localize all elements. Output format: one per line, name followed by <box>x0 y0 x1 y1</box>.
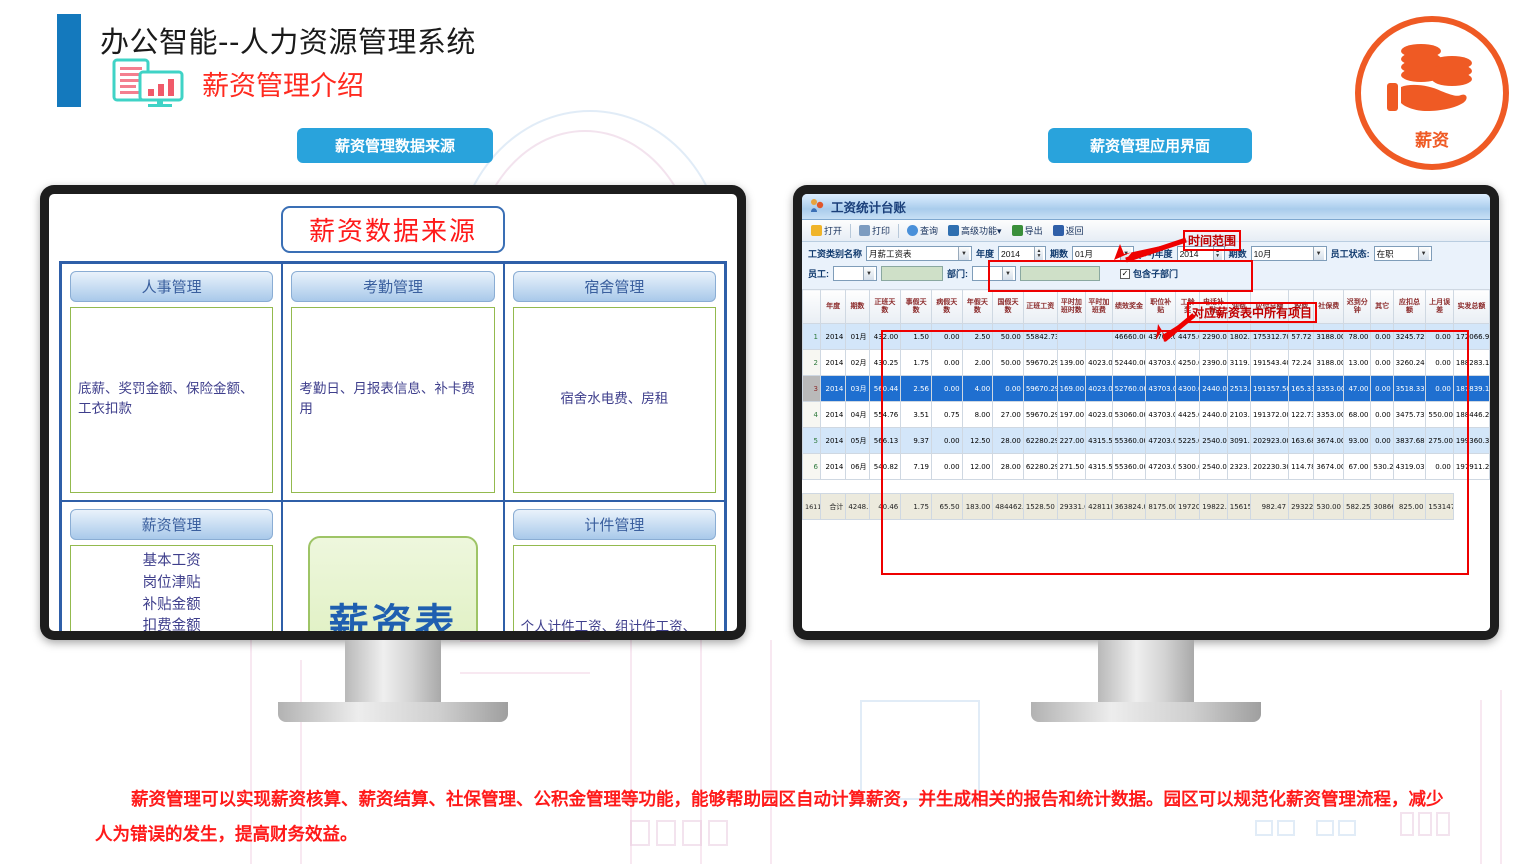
table-cell[interactable]: 2440.00 <box>1200 402 1227 428</box>
table-cell[interactable]: 4315.50 <box>1086 428 1112 454</box>
cell-body-hr: 底薪、奖罚金额、保险金额、工衣扣款 <box>70 307 273 493</box>
row-number[interactable]: 4 <box>803 402 821 428</box>
table-cell[interactable]: 3674.00 <box>1314 454 1344 480</box>
table-row[interactable]: 6201406月540.827.190.0012.0028.0062280.29… <box>803 454 1490 480</box>
table-cell[interactable] <box>1057 324 1086 350</box>
table-cell[interactable]: 3837.68 <box>1393 428 1426 454</box>
table-cell[interactable]: 68.00 <box>1344 402 1371 428</box>
table-row[interactable]: 3201403月560.442.560.004.000.0059670.2916… <box>803 376 1490 402</box>
table-cell[interactable]: 191543.40 <box>1251 350 1289 376</box>
table-row[interactable]: 5201405月566.139.370.0012.5028.0062280.29… <box>803 428 1490 454</box>
toolbar-advanced-button[interactable]: 高级功能▾ <box>944 223 1006 238</box>
table-cell[interactable]: 3188.00 <box>1314 324 1344 350</box>
col-header-19[interactable]: 迟到分钟 <box>1344 290 1371 324</box>
table-cell[interactable]: 271.50 <box>1057 454 1086 480</box>
table-cell[interactable]: 52440.00 <box>1112 350 1146 376</box>
table-cell[interactable]: 2014 <box>820 324 845 350</box>
col-header-11[interactable]: 绩效奖金 <box>1112 290 1146 324</box>
row-number[interactable]: 5 <box>803 428 821 454</box>
spacer-cell <box>1146 480 1176 494</box>
table-cell[interactable]: 4250.00 <box>1176 350 1200 376</box>
filter-panel: 工资类别名称 月薪工资表 ▼ 年度 2014 ▲▼ 期数 01月 <box>802 242 1490 289</box>
left-monitor-neck <box>345 640 441 702</box>
table-cell[interactable]: 4319.03 <box>1393 454 1426 480</box>
table-cell[interactable]: 2440.00 <box>1200 376 1227 402</box>
total-cell: 30866.72 <box>1371 494 1393 520</box>
table-cell[interactable]: 67.00 <box>1344 454 1371 480</box>
table-cell[interactable]: 47.00 <box>1344 376 1371 402</box>
table-cell[interactable]: 7.19 <box>901 454 932 480</box>
table-cell[interactable]: 5300.00 <box>1176 454 1200 480</box>
table-cell[interactable]: 0.00 <box>1426 324 1453 350</box>
dept-select[interactable]: ▼ <box>972 266 1016 281</box>
table-cell[interactable]: 2014 <box>820 376 845 402</box>
payroll-table-chip: 薪资表 <box>308 536 479 631</box>
table-cell[interactable]: 3.51 <box>901 402 932 428</box>
toolbar-open-button[interactable]: 打开 <box>807 223 846 238</box>
table-cell[interactable]: 12.50 <box>962 428 993 454</box>
table-cell[interactable]: 188283.16 <box>1453 350 1489 376</box>
table-cell[interactable]: 43703.00 <box>1146 324 1176 350</box>
row-number[interactable]: 2 <box>803 350 821 376</box>
col-header-3[interactable]: 正班天数 <box>869 290 901 324</box>
cell-body-piecework: 个人计件工资、组计件工资、提成、奖金 <box>513 545 716 631</box>
table-cell[interactable]: 2.00 <box>962 350 993 376</box>
table-cell[interactable]: 0.00 <box>1371 402 1393 428</box>
chevron-down-icon: ▼ <box>863 267 874 280</box>
table-row[interactable]: 2201402月430.251.750.002.0050.0059670.291… <box>803 350 1490 376</box>
employee-label: 员工: <box>808 267 829 280</box>
toolbar-print-label: 打印 <box>872 224 890 237</box>
subtitle-group: 薪资管理介绍 <box>112 58 364 108</box>
col-header-4[interactable]: 事假天数 <box>901 290 932 324</box>
col-header-2[interactable]: 期数 <box>846 290 869 324</box>
total-cell: 530.00 <box>1314 494 1344 520</box>
folder-open-icon <box>811 225 822 236</box>
total-cell: 4248.71 <box>846 494 869 520</box>
table-cell[interactable]: 554.76 <box>869 402 901 428</box>
table-cell[interactable]: 566.13 <box>869 428 901 454</box>
table-cell[interactable]: 0.00 <box>993 376 1024 402</box>
table-cell[interactable]: 0.00 <box>931 428 962 454</box>
col-header-rownum[interactable] <box>803 290 821 324</box>
col-header-1[interactable]: 年度 <box>820 290 845 324</box>
document-chart-icon <box>112 58 190 108</box>
table-cell[interactable]: 540.82 <box>869 454 901 480</box>
table-cell[interactable]: 55360.00 <box>1112 454 1146 480</box>
chevron-down-icon: ▼ <box>1418 247 1429 260</box>
total-cell: 29322.00 <box>1289 494 1314 520</box>
total-cell: 19720.00 <box>1176 494 1200 520</box>
table-cell[interactable]: 12.00 <box>962 454 993 480</box>
table-cell[interactable]: 430.25 <box>869 350 901 376</box>
table-cell[interactable]: 62280.29 <box>1023 428 1057 454</box>
category-label: 工资类别名称 <box>808 247 862 260</box>
table-cell[interactable]: 197.00 <box>1057 402 1086 428</box>
table-cell[interactable]: 2014 <box>820 402 845 428</box>
right-monitor: 工资统计台账 打开 打印 查询 <box>793 185 1499 722</box>
spacer-cell <box>1112 480 1146 494</box>
checkbox-icon[interactable]: ✓ <box>1120 269 1130 279</box>
table-cell[interactable]: 227.00 <box>1057 428 1086 454</box>
cell-body-payroll-mgmt: 基本工资 岗位津贴 补贴金额 扣费金额 全勤奖 借款金额 计时金额 … … <box>70 545 273 631</box>
filter-row-1: 工资类别名称 月薪工资表 ▼ 年度 2014 ▲▼ 期数 01月 <box>808 246 1484 261</box>
table-cell[interactable]: 2014 <box>820 428 845 454</box>
employee-name-field[interactable] <box>881 266 943 281</box>
chevron-down-icon: ▼ <box>1120 247 1131 260</box>
cell-hr: 人事管理 底薪、奖罚金额、保险金额、工衣扣款 <box>61 263 282 501</box>
table-cell[interactable]: 04月 <box>846 402 869 428</box>
table-cell[interactable]: 53060.00 <box>1112 402 1146 428</box>
table-cell[interactable]: 43703.00 <box>1146 402 1176 428</box>
table-cell[interactable]: 05月 <box>846 428 869 454</box>
col-header-18[interactable]: 社保费 <box>1314 290 1344 324</box>
right-monitor-base <box>1031 702 1261 722</box>
spacer-cell <box>962 480 993 494</box>
table-cell[interactable]: 188446.27 <box>1453 402 1489 428</box>
table-row[interactable]: 4201404月554.763.510.758.0027.0059670.291… <box>803 402 1490 428</box>
export-icon <box>1012 225 1023 236</box>
total-count: 16112 <box>803 494 821 520</box>
pill-data-source: 薪资管理数据来源 <box>297 128 493 163</box>
spacer-cell <box>846 480 869 494</box>
table-cell[interactable]: 3188.00 <box>1314 350 1344 376</box>
total-cell: 982.47 <box>1251 494 1289 520</box>
table-cell[interactable]: 3091.50 <box>1227 428 1250 454</box>
year-to-label: (<=)年度 <box>1138 247 1173 260</box>
table-cell[interactable]: 8.00 <box>962 402 993 428</box>
chevron-down-icon: ▼ <box>958 247 969 260</box>
spacer-cell <box>803 480 821 494</box>
spacer-cell <box>1251 480 1289 494</box>
table-cell[interactable]: 59670.29 <box>1023 402 1057 428</box>
status-label: 员工状态: <box>1331 247 1370 260</box>
table-cell[interactable]: 0.00 <box>931 376 962 402</box>
table-cell[interactable]: 2390.00 <box>1200 350 1227 376</box>
row-number[interactable]: 6 <box>803 454 821 480</box>
hand-holding-coins-icon <box>1381 35 1483 124</box>
col-header-7[interactable]: 国假天数 <box>993 290 1024 324</box>
app-logo-icon <box>809 198 824 215</box>
col-header-8[interactable]: 正班工资 <box>1023 290 1057 324</box>
table-cell[interactable]: 0.00 <box>1371 376 1393 402</box>
table-cell[interactable]: 165.33 <box>1289 376 1314 402</box>
spacer-cell <box>1393 480 1426 494</box>
table-cell[interactable]: 2.50 <box>962 324 993 350</box>
annotation-time-range: 时间范围 <box>1183 230 1241 251</box>
table-cell[interactable]: 202230.30 <box>1251 454 1289 480</box>
total-cell: 363824.00 <box>1112 494 1146 520</box>
toolbar-print-button[interactable]: 打印 <box>855 223 894 238</box>
total-label: 合计 <box>820 494 845 520</box>
cell-attendance: 考勤管理 考勤日、月报表信息、补卡费用 <box>282 263 503 501</box>
spacer-cell <box>1314 480 1344 494</box>
cell-head-piecework: 计件管理 <box>513 509 716 540</box>
year-label: 年度 <box>976 247 994 260</box>
table-cell[interactable]: 2540.00 <box>1200 454 1227 480</box>
table-cell[interactable]: 02月 <box>846 350 869 376</box>
payroll-ledger-app: 工资统计台账 打开 打印 查询 <box>802 194 1490 631</box>
total-cell: 582.25 <box>1344 494 1371 520</box>
period-select[interactable]: 01月 ▼ <box>1072 246 1134 261</box>
row-number[interactable]: 3 <box>803 376 821 402</box>
table-cell[interactable]: 4425.00 <box>1176 402 1200 428</box>
ledger-table-wrapper[interactable]: 年度期数正班天数事假天数病假天数年假天数国假天数正班工资平时加班时数平时加班费绩… <box>802 289 1490 631</box>
table-cell[interactable]: 202923.00 <box>1251 428 1289 454</box>
spacer-cell <box>931 480 962 494</box>
table-cell[interactable]: 0.00 <box>1371 324 1393 350</box>
table-cell[interactable]: 2014 <box>820 454 845 480</box>
spacer-cell <box>869 480 901 494</box>
total-cell: 40.46 <box>869 494 901 520</box>
table-cell[interactable]: 78.00 <box>1344 324 1371 350</box>
cell-head-payroll-mgmt: 薪资管理 <box>70 509 273 540</box>
total-cell: 825.00 <box>1393 494 1426 520</box>
total-cell: 1531476.98 <box>1426 494 1453 520</box>
search-icon <box>907 225 918 236</box>
spacer-cell <box>1227 480 1250 494</box>
toolbar-separator <box>850 224 851 238</box>
printer-icon <box>859 225 870 236</box>
category-value: 月薪工资表 <box>869 248 912 260</box>
total-cell: 65.50 <box>931 494 962 520</box>
status-value: 在职 <box>1377 248 1394 260</box>
table-cell[interactable]: 197911.27 <box>1453 454 1489 480</box>
table-cell[interactable]: 59670.29 <box>1023 376 1057 402</box>
chevron-down-icon: ▼ <box>1313 247 1324 260</box>
diagram-grid: 人事管理 底薪、奖罚金额、保险金额、工衣扣款 考勤管理 考勤日、月报表信息、补卡… <box>59 261 727 631</box>
table-cell[interactable]: 432.00 <box>869 324 901 350</box>
cell-body-dormitory: 宿舍水电费、房租 <box>513 307 716 493</box>
spinner-icon[interactable]: ▲▼ <box>1034 247 1043 260</box>
table-cell[interactable]: 5225.00 <box>1176 428 1200 454</box>
table-cell[interactable]: 2.56 <box>901 376 932 402</box>
table-cell[interactable]: 550.00 <box>1426 402 1453 428</box>
spacer-cell <box>1289 480 1314 494</box>
col-header-5[interactable]: 病假天数 <box>931 290 962 324</box>
status-select[interactable]: 在职 ▼ <box>1374 246 1432 261</box>
total-cell: 1528.50 <box>1023 494 1057 520</box>
left-monitor-base <box>278 702 508 722</box>
table-cell[interactable]: 2014 <box>820 350 845 376</box>
table-cell[interactable]: 0.00 <box>1371 350 1393 376</box>
table-cell[interactable]: 4315.50 <box>1086 454 1112 480</box>
table-cell[interactable]: 114.78 <box>1289 454 1314 480</box>
period-to-select[interactable]: 10月 ▼ <box>1251 246 1327 261</box>
row-number[interactable]: 1 <box>803 324 821 350</box>
spacer-cell <box>1176 480 1200 494</box>
table-cell[interactable]: 1802.10 <box>1227 324 1250 350</box>
table-row[interactable]: 1201401月432.001.500.002.5050.0055842.734… <box>803 324 1490 350</box>
table-cell[interactable]: 06月 <box>846 454 869 480</box>
cell-head-dormitory: 宿舍管理 <box>513 271 716 302</box>
badge-label: 薪资 <box>1415 126 1449 151</box>
total-cell: 1.75 <box>901 494 932 520</box>
spacer-cell <box>1200 480 1227 494</box>
table-cell[interactable] <box>1086 324 1112 350</box>
cell-piecework: 计件管理 个人计件工资、组计件工资、提成、奖金 <box>504 501 725 631</box>
table-cell[interactable]: 4.00 <box>962 376 993 402</box>
table-cell[interactable]: 3353.00 <box>1314 376 1344 402</box>
table-cell[interactable]: 47203.00 <box>1146 428 1176 454</box>
table-spacer-row <box>803 480 1490 494</box>
table-cell[interactable]: 3475.73 <box>1393 402 1426 428</box>
table-cell[interactable]: 191357.50 <box>1251 376 1289 402</box>
table-cell[interactable]: 55842.73 <box>1023 324 1057 350</box>
table-cell[interactable]: 3119.40 <box>1227 350 1250 376</box>
table-cell[interactable]: 27.00 <box>993 402 1024 428</box>
spacer-cell <box>1426 480 1453 494</box>
table-cell[interactable]: 0.00 <box>931 324 962 350</box>
table-cell[interactable]: 13.00 <box>1344 350 1371 376</box>
table-cell[interactable]: 93.00 <box>1344 428 1371 454</box>
table-cell[interactable]: 50.00 <box>993 350 1024 376</box>
total-cell: 19822.90 <box>1200 494 1227 520</box>
table-cell[interactable]: 530.25 <box>1371 454 1393 480</box>
chevron-down-icon: ▼ <box>1002 267 1013 280</box>
cell-head-hr: 人事管理 <box>70 271 273 302</box>
table-cell[interactable]: 03月 <box>846 376 869 402</box>
pill-application-ui: 薪资管理应用界面 <box>1048 128 1252 163</box>
table-cell[interactable]: 4023.00 <box>1086 350 1112 376</box>
table-cell[interactable]: 43703.00 <box>1146 350 1176 376</box>
table-cell[interactable]: 0.75 <box>931 402 962 428</box>
col-header-6[interactable]: 年假天数 <box>962 290 993 324</box>
table-cell[interactable]: 199360.32 <box>1453 428 1489 454</box>
table-cell[interactable]: 50.00 <box>993 324 1024 350</box>
table-cell[interactable]: 3353.00 <box>1314 402 1344 428</box>
app-titlebar: 工资统计台账 <box>802 194 1490 220</box>
filter-row-2: 员工: ▼ 部门: ▼ ✓ <box>808 266 1484 281</box>
table-cell[interactable]: 2513.50 <box>1227 376 1250 402</box>
total-cell: 8175.00 <box>1146 494 1176 520</box>
col-header-10[interactable]: 平时加班费 <box>1086 290 1112 324</box>
include-sub-dept-label: 包含子部门 <box>1133 267 1178 280</box>
col-header-22[interactable]: 上月误差 <box>1426 290 1453 324</box>
salary-data-source-diagram: 薪资数据来源 人事管理 底薪、奖罚金额、保险金额、工衣扣款 考勤管理 考勤日、月… <box>49 194 737 631</box>
cell-payroll-table: 薪资表 <box>282 501 503 631</box>
cell-payroll-mgmt: 薪资管理 基本工资 岗位津贴 补贴金额 扣费金额 全勤奖 借款金额 计时金额 …… <box>61 501 282 631</box>
total-cell: 1561538.70 <box>1227 494 1250 520</box>
spacer-cell <box>1344 480 1371 494</box>
table-cell[interactable]: 0.00 <box>1426 454 1453 480</box>
table-cell[interactable]: 0.00 <box>931 350 962 376</box>
year-value: 2014 <box>1001 249 1020 259</box>
table-cell[interactable]: 2323.80 <box>1227 454 1250 480</box>
toolbar-separator <box>898 224 899 238</box>
col-header-21[interactable]: 应扣总额 <box>1393 290 1426 324</box>
toolbar-query-button[interactable]: 查询 <box>903 223 942 238</box>
table-cell[interactable]: 62280.29 <box>1023 454 1057 480</box>
toolbar-export-button[interactable]: 导出 <box>1008 223 1047 238</box>
employee-select[interactable]: ▼ <box>833 266 877 281</box>
table-cell[interactable]: 560.44 <box>869 376 901 402</box>
col-header-23[interactable]: 实发总额 <box>1453 290 1489 324</box>
spacer-cell <box>1023 480 1057 494</box>
table-cell[interactable]: 3518.33 <box>1393 376 1426 402</box>
dept-name-field[interactable] <box>1020 266 1100 281</box>
table-cell[interactable]: 163.68 <box>1289 428 1314 454</box>
bottom-caption: 薪资管理可以实现薪资核算、薪资结算、社保管理、公积金管理等功能，能够帮助园区自动… <box>95 783 1445 853</box>
table-cell[interactable]: 139.00 <box>1057 350 1086 376</box>
table-cell[interactable]: 3674.00 <box>1314 428 1344 454</box>
table-cell[interactable]: 169.00 <box>1057 376 1086 402</box>
toolbar-export-label: 导出 <box>1025 224 1043 237</box>
total-cell: 484462.56 <box>993 494 1024 520</box>
table-cell[interactable]: 3245.72 <box>1393 324 1426 350</box>
header-accent-bar <box>57 14 81 107</box>
table-cell[interactable]: 172066.98 <box>1453 324 1489 350</box>
table-cell[interactable]: 46660.00 <box>1112 324 1146 350</box>
toolbar-back-button[interactable]: 返回 <box>1049 223 1088 238</box>
table-cell[interactable]: 0.00 <box>1426 376 1453 402</box>
table-cell[interactable]: 0.00 <box>1426 350 1453 376</box>
table-cell[interactable]: 4475.00 <box>1176 324 1200 350</box>
table-cell[interactable]: 72.24 <box>1289 350 1314 376</box>
table-cell[interactable]: 1.50 <box>901 324 932 350</box>
table-cell[interactable]: 43703.00 <box>1146 376 1176 402</box>
toolbar-back-label: 返回 <box>1066 224 1084 237</box>
period-to-value: 10月 <box>1254 248 1272 260</box>
table-cell[interactable]: 191372.00 <box>1251 402 1289 428</box>
year-spinner[interactable]: 2014 ▲▼ <box>998 246 1046 261</box>
table-cell[interactable]: 175312.70 <box>1251 324 1289 350</box>
toolbar-open-label: 打开 <box>824 224 842 237</box>
total-cell: 183.00 <box>962 494 993 520</box>
table-cell[interactable]: 0.00 <box>1371 428 1393 454</box>
col-header-9[interactable]: 平时加班时数 <box>1057 290 1086 324</box>
table-cell[interactable]: 4023.00 <box>1086 376 1112 402</box>
col-header-20[interactable]: 其它 <box>1371 290 1393 324</box>
period-label: 期数 <box>1050 247 1068 260</box>
table-cell[interactable]: 275.00 <box>1426 428 1453 454</box>
table-cell[interactable]: 187839.17 <box>1453 376 1489 402</box>
table-cell[interactable]: 55360.00 <box>1112 428 1146 454</box>
total-cell: 29331.00 <box>1057 494 1086 520</box>
table-cell[interactable]: 122.73 <box>1289 402 1314 428</box>
total-cell: 428110.00 <box>1086 494 1112 520</box>
category-select[interactable]: 月薪工资表 ▼ <box>866 246 972 261</box>
spacer-cell <box>1371 480 1393 494</box>
table-header-row: 年度期数正班天数事假天数病假天数年假天数国假天数正班工资平时加班时数平时加班费绩… <box>803 290 1490 324</box>
table-cell[interactable]: 2103.00 <box>1227 402 1250 428</box>
table-cell[interactable]: 4023.00 <box>1086 402 1112 428</box>
spacer-cell <box>1086 480 1112 494</box>
table-cell[interactable]: 01月 <box>846 324 869 350</box>
dept-label: 部门: <box>947 267 968 280</box>
table-cell[interactable]: 59670.29 <box>1023 350 1057 376</box>
diagram-title: 薪资数据来源 <box>281 206 505 253</box>
include-sub-dept-checkbox-group[interactable]: ✓ 包含子部门 <box>1120 267 1178 280</box>
table-cell[interactable]: 28.00 <box>993 454 1024 480</box>
table-total-row: 16112合计4248.7140.461.7565.50183.00484462… <box>803 494 1490 520</box>
spacer-cell <box>901 480 932 494</box>
table-cell[interactable]: 28.00 <box>993 428 1024 454</box>
table-cell[interactable]: 2540.00 <box>1200 428 1227 454</box>
table-cell[interactable]: 2290.00 <box>1200 324 1227 350</box>
table-cell[interactable]: 3260.24 <box>1393 350 1426 376</box>
table-cell[interactable]: 57.72 <box>1289 324 1314 350</box>
table-cell[interactable]: 0.00 <box>931 454 962 480</box>
toolbar-query-label: 查询 <box>920 224 938 237</box>
table-cell[interactable]: 9.37 <box>901 428 932 454</box>
col-header-12[interactable]: 职位补贴 <box>1146 290 1176 324</box>
table-cell[interactable]: 1.75 <box>901 350 932 376</box>
left-monitor: 薪资数据来源 人事管理 底薪、奖罚金额、保险金额、工衣扣款 考勤管理 考勤日、月… <box>40 185 746 722</box>
table-cell[interactable]: 4300.00 <box>1176 376 1200 402</box>
table-cell[interactable]: 52760.00 <box>1112 376 1146 402</box>
table-cell[interactable]: 47203.00 <box>1146 454 1176 480</box>
